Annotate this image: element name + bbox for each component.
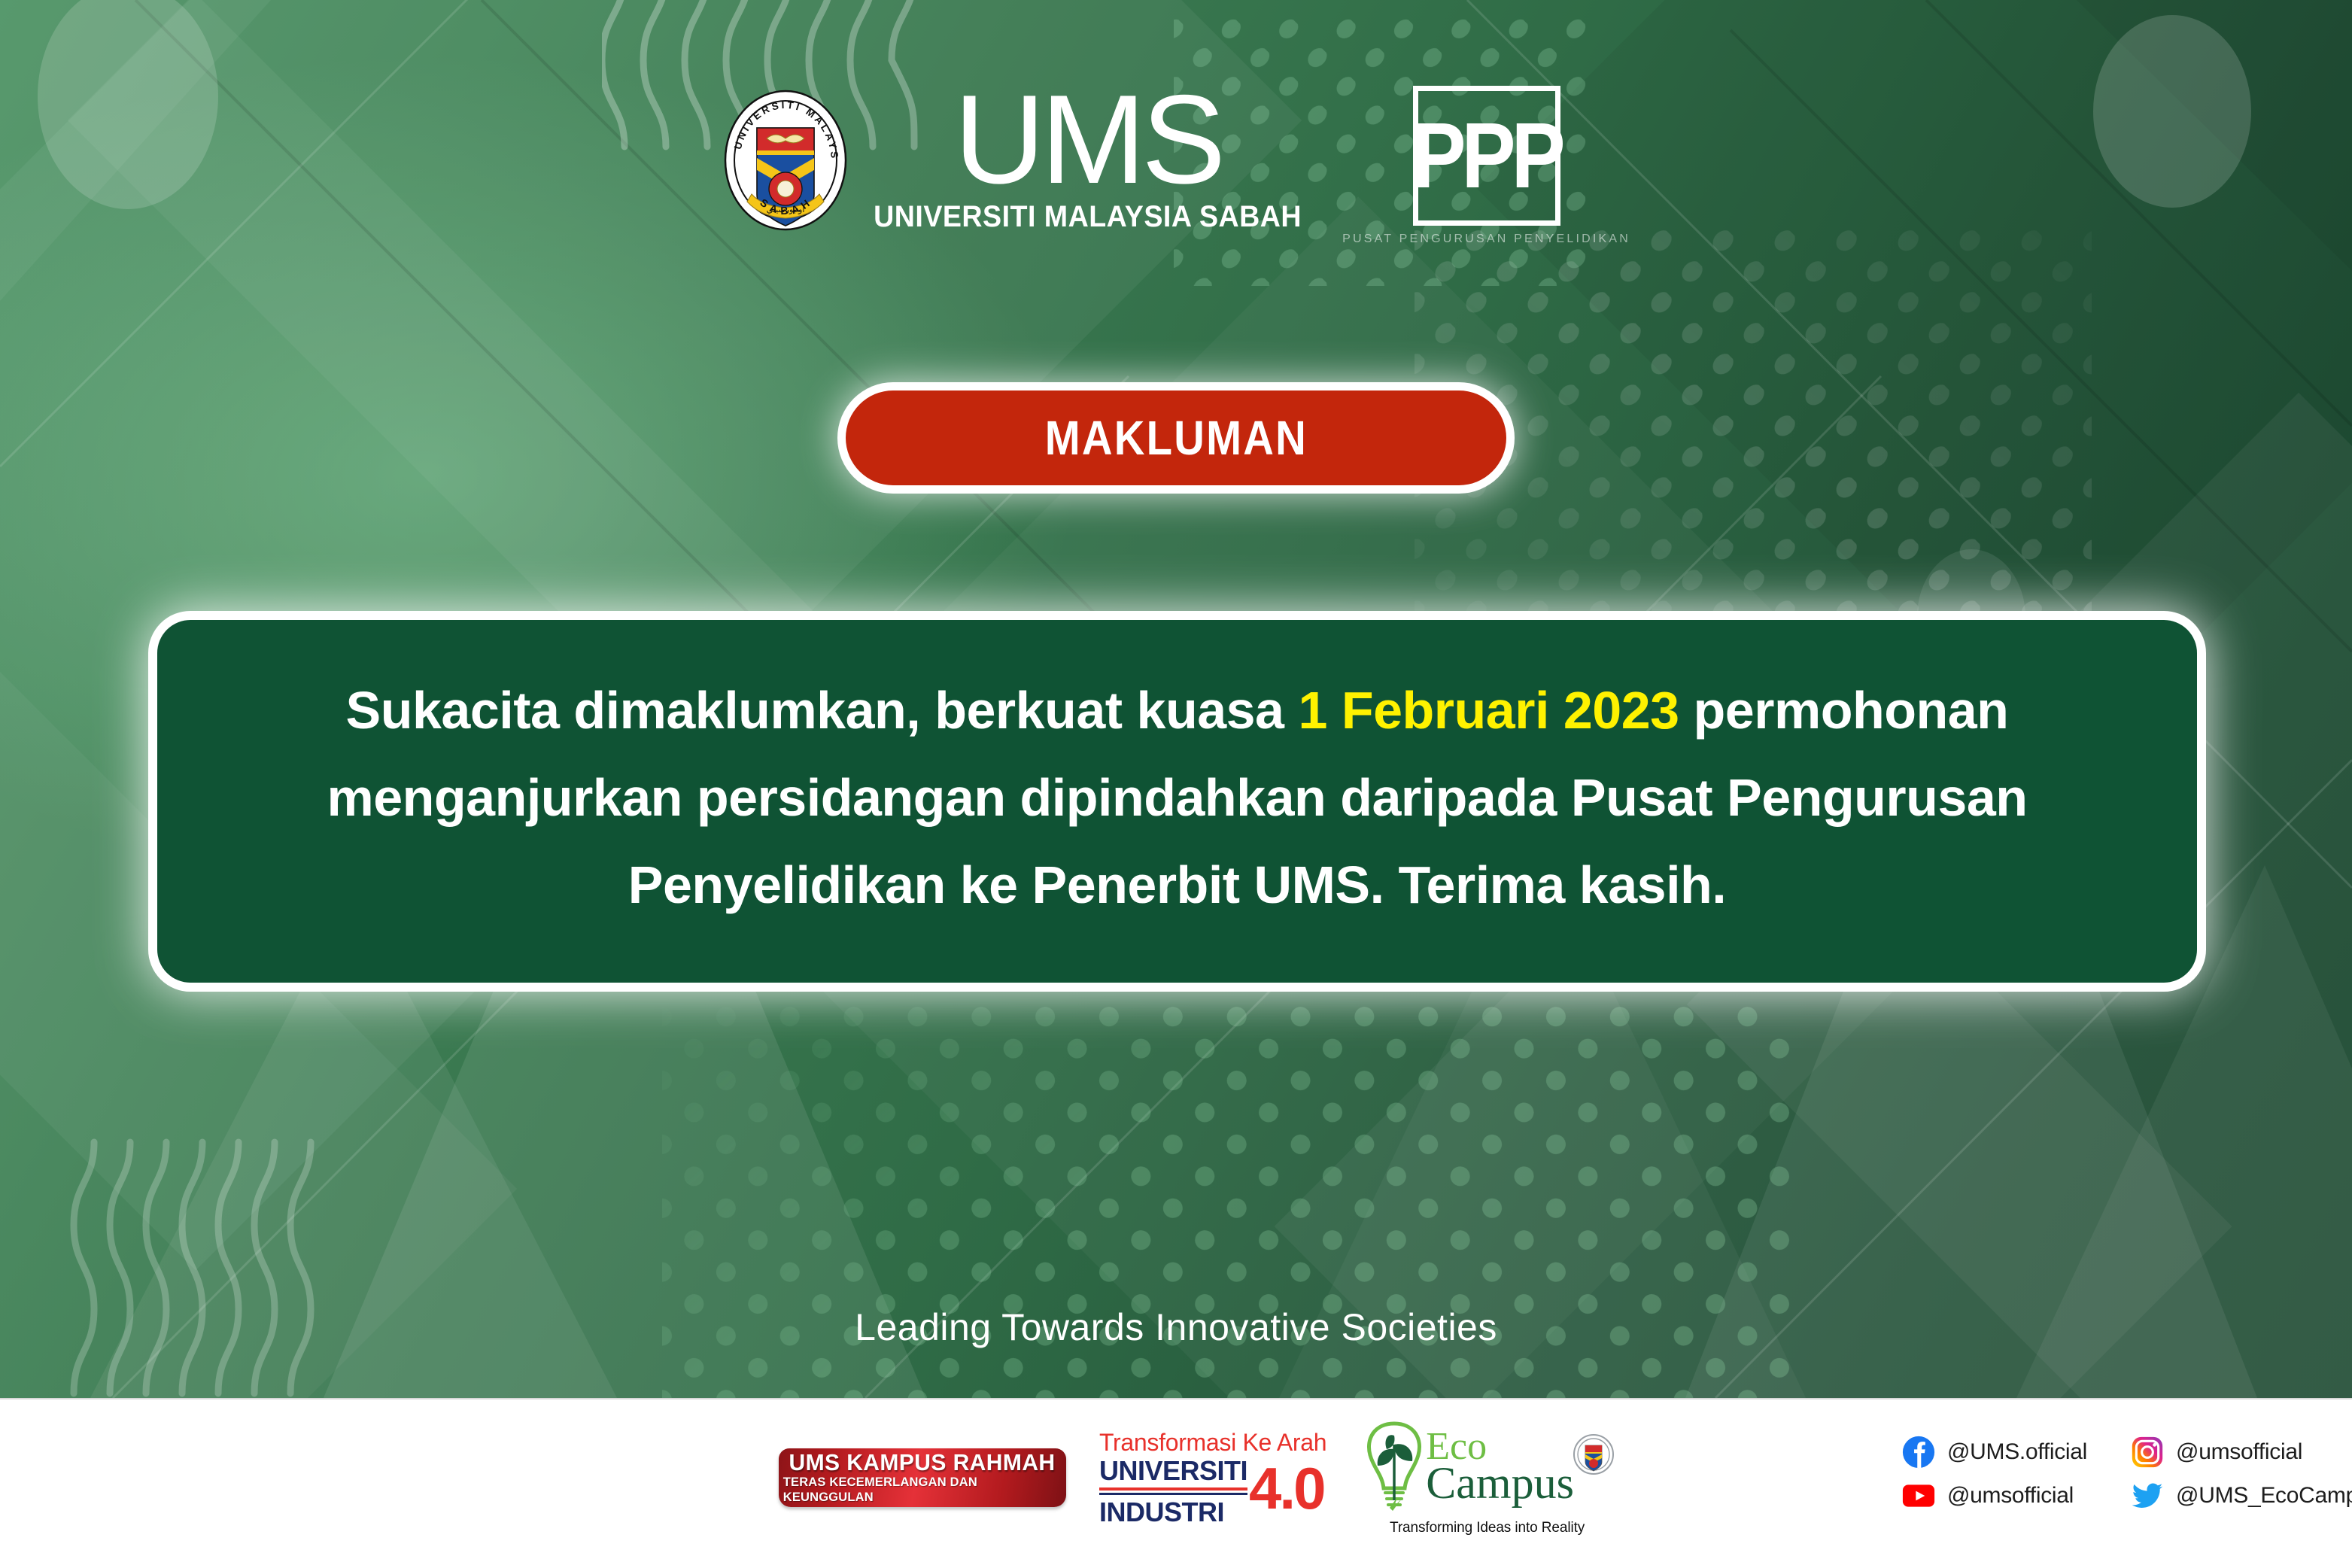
notice-text-part1: Sukacita dimaklumkan, berkuat kuasa <box>346 681 1299 740</box>
ums-wordmark-text: UMS <box>954 83 1221 196</box>
makluman-badge-inner: MAKLUMAN <box>846 390 1506 485</box>
industri-40-version: 4.0 <box>1249 1459 1323 1518</box>
social-facebook-handle: @UMS.official <box>1947 1439 2087 1465</box>
makluman-badge-label: MAKLUMAN <box>1044 410 1307 466</box>
industri-40-top: Transformasi Ke Arah <box>1099 1429 1326 1456</box>
industri-40-industri: INDUSTRI <box>1099 1493 1247 1527</box>
eco-campus-words: Eco Campus <box>1426 1430 1574 1505</box>
eco-campus-tagline: Transforming Ideas into Reality <box>1390 1520 1585 1536</box>
announcement-poster: اونيورسيتي UNIVERSITI MALAYSIA SABAH UMS… <box>0 0 2352 1568</box>
eco-campus-main: Eco Campus <box>1360 1419 1615 1515</box>
instagram-icon[interactable] <box>2131 1436 2164 1469</box>
bg-waves-bottom-left <box>68 1129 339 1398</box>
social-instagram-handle: @umsofficial <box>2176 1439 2302 1465</box>
ums-wordmark-subtitle: UNIVERSITI MALAYSIA SABAH <box>874 200 1302 234</box>
notice-box: Sukacita dimaklumkan, berkuat kuasa 1 Fe… <box>148 611 2206 992</box>
ppp-box: PPP <box>1413 86 1560 226</box>
eco-campus-campus: Campus <box>1426 1461 1574 1505</box>
social-facebook[interactable]: @UMS.official <box>1902 1436 2087 1469</box>
footer-logo-group: UMS KAMPUS RAHMAH TERAS KECEMERLANGAN DA… <box>779 1419 1615 1536</box>
industri-40-universiti: UNIVERSITI <box>1099 1456 1247 1491</box>
social-twitter-handle: @UMS_EcoCampus <box>2176 1483 2352 1509</box>
kampus-rahmah-logo: UMS KAMPUS RAHMAH TERAS KECEMERLANGAN DA… <box>779 1448 1066 1507</box>
facebook-icon[interactable] <box>1902 1436 1935 1469</box>
eco-ums-crest-icon <box>1573 1433 1615 1475</box>
social-youtube[interactable]: @umsofficial <box>1902 1479 2087 1512</box>
ums-wordmark: UMS UNIVERSITI MALAYSIA SABAH <box>860 83 1315 234</box>
industri-40-words: UNIVERSITI INDUSTRI <box>1099 1456 1247 1527</box>
kampus-rahmah-line1: UMS KAMPUS RAHMAH <box>789 1451 1056 1475</box>
industri-40-logo: Transformasi Ke Arah UNIVERSITI INDUSTRI… <box>1099 1429 1326 1527</box>
eco-campus-logo: Eco Campus Transforming Ideas into Reali… <box>1360 1419 1615 1536</box>
makluman-badge-outer: MAKLUMAN <box>837 382 1515 494</box>
makluman-badge: MAKLUMAN <box>837 382 1515 494</box>
notice-highlight-date: 1 Februari 2023 <box>1298 681 1679 740</box>
social-links: @UMS.official <box>1902 1436 2352 1512</box>
social-youtube-handle: @umsofficial <box>1947 1483 2074 1509</box>
bulb-leaf-icon <box>1360 1419 1429 1515</box>
kampus-rahmah-line2: TERAS KECEMERLANGAN DAN KEUNGGULAN <box>783 1475 1062 1505</box>
header-logo-lockup: اونيورسيتي UNIVERSITI MALAYSIA SABAH UMS… <box>0 83 2352 246</box>
tagline: Leading Towards Innovative Societies <box>0 1305 2352 1349</box>
ppp-text: PPP <box>1412 113 1561 199</box>
social-instagram[interactable]: @umsofficial <box>2131 1436 2352 1469</box>
social-twitter[interactable]: @UMS_EcoCampus <box>2131 1479 2352 1512</box>
industri-40-row: UNIVERSITI INDUSTRI 4.0 <box>1099 1456 1323 1527</box>
ums-crest-icon: اونيورسيتي UNIVERSITI MALAYSIA SABAH <box>722 89 849 232</box>
footer-bar: UMS KAMPUS RAHMAH TERAS KECEMERLANGAN DA… <box>0 1398 2352 1568</box>
notice-text: Sukacita dimaklumkan, berkuat kuasa 1 Fe… <box>213 667 2141 928</box>
ppp-caption: PUSAT PENGURUSAN PENYELIDIKAN <box>1342 232 1630 246</box>
ppp-logo: PPP PUSAT PENGURUSAN PENYELIDIKAN <box>1342 86 1630 246</box>
notice-panel: Sukacita dimaklumkan, berkuat kuasa 1 Fe… <box>148 611 2206 992</box>
twitter-icon[interactable] <box>2131 1479 2164 1512</box>
youtube-icon[interactable] <box>1902 1479 1935 1512</box>
